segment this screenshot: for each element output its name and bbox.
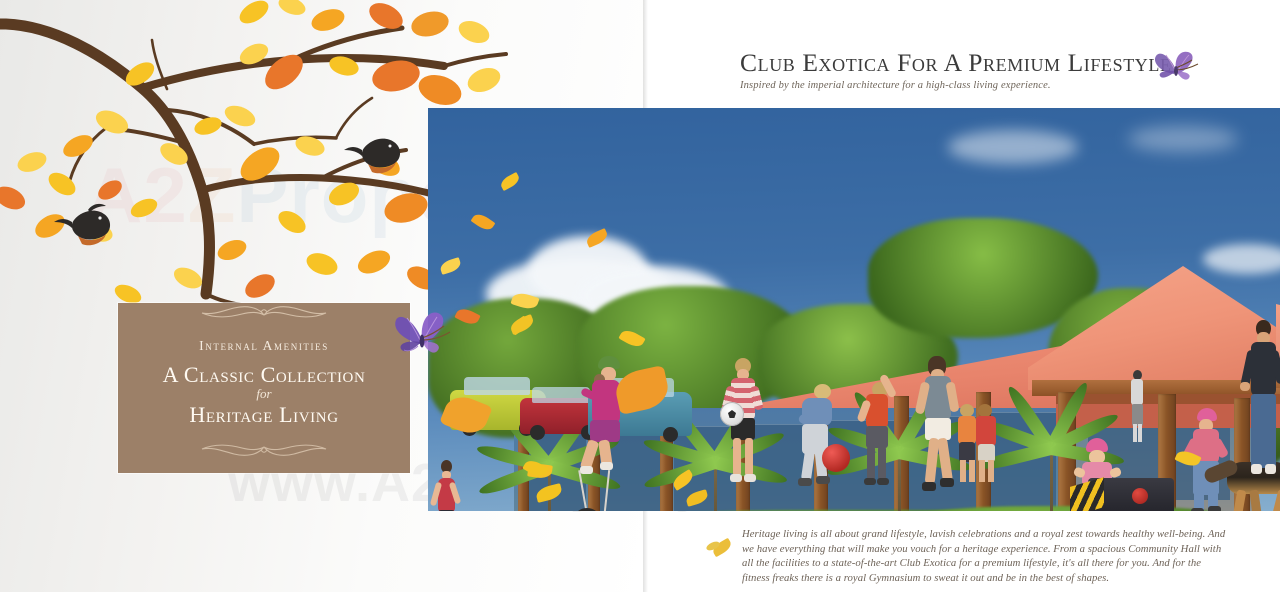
- flourish-ornament-icon: [118, 303, 410, 321]
- butterfly-icon: [392, 306, 454, 368]
- jogging-woman: [432, 460, 460, 511]
- brochure-spread: A2ZProperty www.A2ZProperty.in: [0, 0, 1280, 592]
- toy-cart: [1088, 478, 1174, 511]
- amenities-connector: for: [118, 386, 410, 403]
- man-standing: [1246, 320, 1280, 511]
- page-title: Club Exotica For A Premium Lifestyle: [740, 50, 1210, 76]
- cloud: [948, 130, 1078, 164]
- jogging-woman-center: [918, 356, 958, 506]
- amenities-kicker: Internal Amenities: [118, 338, 410, 354]
- page-subtitle: Inspired by the imperial architecture fo…: [740, 80, 1210, 91]
- butterfly-icon: [1152, 46, 1204, 88]
- flourish-ornament-icon: [118, 441, 410, 459]
- leaf-icon: [705, 541, 721, 551]
- bird-icon: [344, 139, 400, 174]
- amenities-panel: Internal Amenities A Classic Collection …: [118, 303, 410, 473]
- distant-person: [1128, 370, 1146, 446]
- amenities-headline: A Classic Collection: [118, 363, 410, 386]
- children-group: [958, 404, 1002, 496]
- body-copy: Heritage living is all about grand lifes…: [742, 527, 1227, 585]
- child-reaching: [856, 374, 898, 496]
- header: Club Exotica For A Premium Lifestyle Ins…: [740, 50, 1210, 91]
- clubhouse-architectural-render: [428, 108, 1280, 511]
- cloud: [1128, 126, 1238, 152]
- red-ball-icon: [822, 444, 850, 472]
- amenities-subheadline: Heritage Living: [118, 403, 410, 427]
- child-with-red-ball: [796, 384, 844, 500]
- boy-with-football: [724, 358, 764, 498]
